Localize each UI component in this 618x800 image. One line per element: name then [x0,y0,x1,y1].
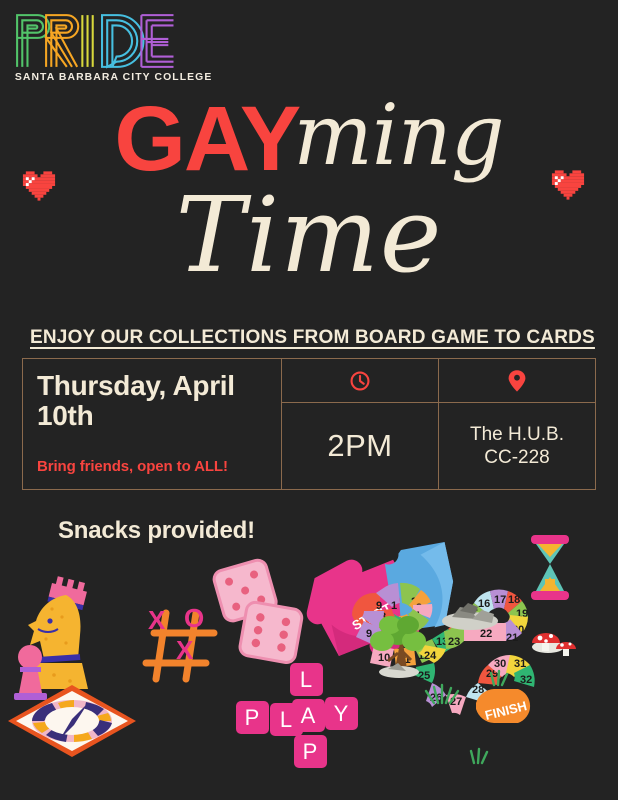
chess-pieces-illustration [14,575,89,700]
word-tiles-illustration: P L L A Y P [236,663,358,768]
board-game-path-illustration: START 1 2 3 4 5 6 7 8 9 [350,583,576,763]
svg-text:A: A [301,703,316,728]
tile-P-1: P [236,701,269,734]
svg-text:17: 17 [494,594,506,606]
illustration-layer: X O X [0,525,618,800]
tictactoe-o-1: O [184,603,204,633]
tictactoe-x-1: X [148,605,166,635]
svg-text:L: L [280,707,292,732]
pride-wordmark-icon [14,12,185,70]
svg-text:P: P [245,705,260,730]
title-script-part: ming [293,86,503,184]
tic-tac-toe-illustration: X O X [146,603,214,679]
tile-A-top: A [292,699,325,732]
svg-text:Y: Y [334,701,349,726]
tile-P-bottom: P [294,735,327,768]
svg-text:L: L [300,667,312,692]
pixel-heart-icon-right [549,167,587,203]
location-column: The H.U.B. CC-228 [439,359,595,489]
title-second-line: Time [176,174,443,296]
location-line-1: The H.U.B. [470,424,564,445]
logo-subtitle: SANTA BARBARA CITY COLLEGE [15,71,178,83]
dice-illustration [212,558,303,664]
tile-Y: Y [325,697,358,730]
location-line-2: CC-228 [484,447,549,468]
svg-text:10: 10 [378,652,390,664]
event-subtitle: ENJOY OUR COLLECTIONS FROM BOARD GAME TO… [30,326,576,349]
svg-text:24: 24 [424,650,437,662]
svg-text:32: 32 [520,674,532,686]
svg-text:P: P [303,739,318,764]
hourglass-illustration [531,535,569,600]
title-line-two: Time [0,174,618,296]
poster-canvas: SANTA BARBARA CITY COLLEGE GAYming Time [0,0,618,800]
event-time: 2PM [327,428,392,464]
event-note: Bring friends, open to ALL! [37,458,281,475]
svg-text:21: 21 [506,632,518,644]
game-illustrations: X O X [0,525,618,800]
event-location: The H.U.B. CC-228 [470,423,564,469]
poster-title: GAYming Time [0,86,618,291]
date-cell: Thursday, April 10th Bring friends, open… [23,359,282,489]
event-date: Thursday, April 10th [37,371,281,430]
board-scenery-mushrooms [532,633,576,656]
tile-L-top: L [290,663,323,696]
clock-icon [349,370,371,392]
map-pin-icon [507,369,527,393]
location-value-cell: The H.U.B. CC-228 [439,403,595,489]
svg-text:22: 22 [480,628,492,640]
svg-text:30: 30 [494,658,506,670]
svg-text:9: 9 [376,600,382,612]
tictactoe-x-2: X [176,635,194,665]
svg-text:23: 23 [448,636,460,648]
pixel-heart-icon-left [20,168,58,204]
event-details-table: Thursday, April 10th Bring friends, open… [22,358,596,490]
location-icon-cell [439,359,595,403]
pride-logo: SANTA BARBARA CITY COLLEGE [14,12,179,83]
board-tile-finish: FINISH [476,689,530,723]
svg-text:16: 16 [478,598,490,610]
time-icon-cell [282,359,438,403]
svg-text:25: 25 [418,670,430,682]
time-value-cell: 2PM [282,403,438,489]
time-column: 2PM [282,359,439,489]
